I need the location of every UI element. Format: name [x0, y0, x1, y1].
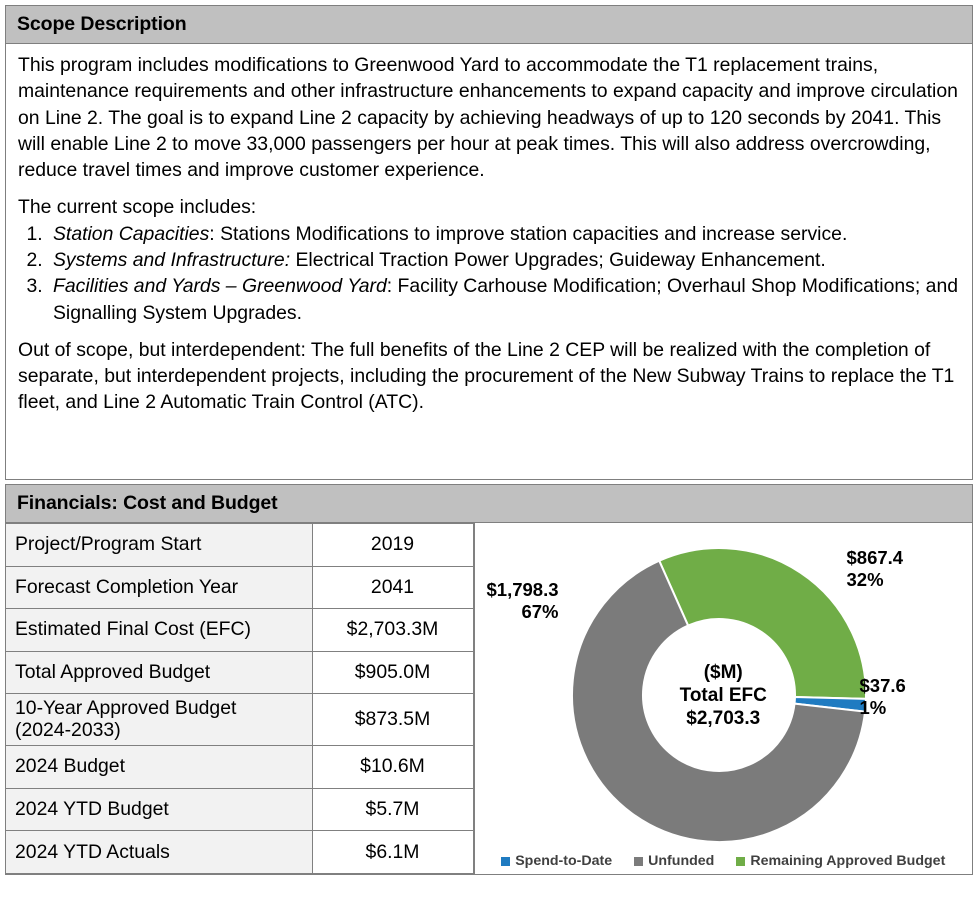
table-cell-value: $873.5M	[312, 694, 473, 746]
table-cell-value: $5.7M	[312, 788, 473, 831]
legend-swatch-icon	[501, 857, 510, 866]
scope-item-emphasis: Systems and Infrastructure:	[53, 249, 290, 271]
table-cell-label-line1: 10-Year Approved Budget	[15, 698, 303, 720]
legend-item-unfunded: Unfunded	[634, 853, 714, 869]
table-cell-label: Estimated Final Cost (EFC)	[6, 609, 312, 652]
table-row: Estimated Final Cost (EFC) $2,703.3M	[6, 609, 473, 652]
financials-table-body: Project/Program Start 2019 Forecast Comp…	[6, 524, 473, 874]
table-row: 2024 Budget $10.6M	[6, 746, 473, 789]
table-cell-value: $6.1M	[312, 831, 473, 874]
table-cell-label: Forecast Completion Year	[6, 566, 312, 609]
scope-list-item: Systems and Infrastructure: Electrical T…	[48, 247, 960, 273]
legend-label: Spend-to-Date	[515, 853, 612, 869]
table-row: 2024 YTD Budget $5.7M	[6, 788, 473, 831]
table-cell-label: 2024 YTD Actuals	[6, 831, 312, 874]
donut-label-unfunded-value: $1,798.3	[487, 579, 559, 601]
report-page: Scope Description This program includes …	[0, 5, 978, 898]
table-row: Total Approved Budget $905.0M	[6, 651, 473, 694]
donut-center-units: ($M)	[680, 661, 767, 684]
table-cell-value: $10.6M	[312, 746, 473, 789]
legend-label: Remaining Approved Budget	[750, 853, 945, 869]
financials-title: Financials: Cost and Budget	[17, 492, 278, 515]
donut-label-remaining-percent: 32%	[847, 569, 904, 591]
scope-item-text: Electrical Traction Power Upgrades; Guid…	[290, 249, 826, 271]
legend-swatch-icon	[736, 857, 745, 866]
donut-legend: Spend-to-Date Unfunded Remaining Approve…	[475, 853, 973, 869]
table-cell-label: Total Approved Budget	[6, 651, 312, 694]
table-row: 10-Year Approved Budget (2024-2033) $873…	[6, 694, 473, 746]
legend-swatch-icon	[634, 857, 643, 866]
financials-body: Project/Program Start 2019 Forecast Comp…	[5, 523, 973, 875]
table-row: 2024 YTD Actuals $6.1M	[6, 831, 473, 874]
donut-label-remaining-approved-budget: $867.4 32%	[847, 547, 904, 591]
legend-item-spend-to-date: Spend-to-Date	[501, 853, 612, 869]
scope-item-list: Station Capacities: Stations Modificatio…	[18, 221, 960, 326]
scope-description-header: Scope Description	[5, 5, 973, 44]
donut-label-unfunded: $1,798.3 67%	[487, 579, 559, 623]
scope-description-body: This program includes modifications to G…	[5, 44, 973, 480]
table-cell-label: 10-Year Approved Budget (2024-2033)	[6, 694, 312, 746]
donut-label-spend-value: $37.6	[860, 675, 906, 697]
financials-header: Financials: Cost and Budget	[5, 484, 973, 523]
scope-item-emphasis: Facilities and Yards – Greenwood Yard	[53, 275, 387, 297]
scope-list-intro: The current scope includes:	[18, 194, 960, 220]
scope-description-title: Scope Description	[17, 13, 187, 36]
table-cell-label: 2024 YTD Budget	[6, 788, 312, 831]
donut-label-unfunded-percent: 67%	[487, 601, 559, 623]
donut-label-spend-percent: 1%	[860, 697, 906, 719]
donut-label-remaining-value: $867.4	[847, 547, 904, 569]
scope-item-emphasis: Station Capacities	[53, 223, 209, 245]
table-cell-value: $2,703.3M	[312, 609, 473, 652]
table-cell-value: 2041	[312, 566, 473, 609]
efc-donut-chart-panel: ($M) Total EFC $2,703.3 $1,798.3 67% $86…	[474, 523, 973, 874]
table-cell-value: 2019	[312, 524, 473, 567]
table-cell-label: Project/Program Start	[6, 524, 312, 567]
financials-table: Project/Program Start 2019 Forecast Comp…	[6, 523, 474, 874]
scope-list-item: Facilities and Yards – Greenwood Yard: F…	[48, 273, 960, 326]
table-cell-value: $905.0M	[312, 651, 473, 694]
scope-paragraph-1: This program includes modifications to G…	[18, 52, 960, 183]
legend-item-remaining-approved-budget: Remaining Approved Budget	[736, 853, 945, 869]
table-cell-label: 2024 Budget	[6, 746, 312, 789]
legend-label: Unfunded	[648, 853, 714, 869]
table-cell-label-line2: (2024-2033)	[15, 720, 303, 742]
scope-paragraph-2: Out of scope, but interdependent: The fu…	[18, 337, 960, 416]
scope-list-item: Station Capacities: Stations Modificatio…	[48, 221, 960, 247]
table-row: Project/Program Start 2019	[6, 524, 473, 567]
donut-center-total: $2,703.3	[680, 707, 767, 730]
donut-center-caption: Total EFC	[680, 684, 767, 707]
donut-center-label: ($M) Total EFC $2,703.3	[680, 661, 767, 731]
scope-item-text: : Stations Modifications to improve stat…	[209, 223, 847, 245]
donut-stage: ($M) Total EFC $2,703.3 $1,798.3 67% $86…	[475, 523, 973, 874]
donut-label-spend-to-date: $37.6 1%	[860, 675, 906, 719]
table-row: Forecast Completion Year 2041	[6, 566, 473, 609]
